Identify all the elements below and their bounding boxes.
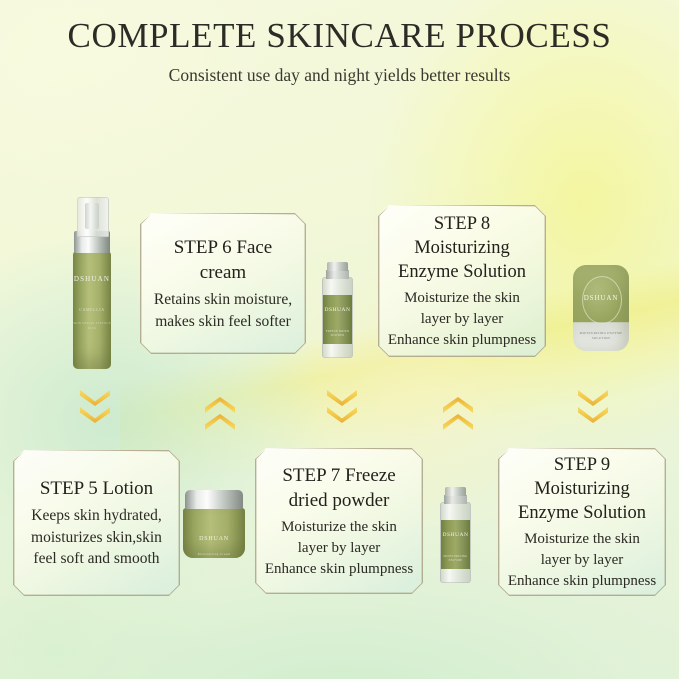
flow-arrow-2-up	[205, 388, 235, 432]
vial-neck	[444, 495, 467, 504]
card-step-7-body: Moisturize the skin layer by layer Enhan…	[264, 517, 414, 580]
product-sachet-enzyme: DSHUAN MOISTURIZING ENZYME SOLUTION	[573, 265, 629, 351]
card-step-8-body: Moisturize the skin layer by layer Enhan…	[387, 288, 537, 351]
bottle-description: SKIN REPAIR ESSENCE MILK	[73, 321, 111, 331]
card-step-5-body: Keeps skin hydrated, moisturizes skin,sk…	[22, 505, 171, 570]
page-title: COMPLETE SKINCARE PROCESS	[0, 14, 679, 58]
card-step-5-title: STEP 5 Lotion	[22, 476, 171, 501]
vial-label: DSHUAN FREEZE DRIED POWDER	[323, 295, 352, 344]
header: COMPLETE SKINCARE PROCESS Consistent use…	[0, 14, 679, 87]
flow-arrow-3-down	[327, 388, 357, 432]
card-step-9-body: Moisturize the skin layer by layer Enhan…	[507, 529, 657, 592]
jar-sub-label: Moisturizing Cream	[183, 552, 245, 556]
card-step-7[interactable]: STEP 7 Freeze dried powder Moisturize th…	[255, 448, 423, 594]
card-step-6-title: STEP 6 Face cream	[149, 235, 297, 285]
vial-brand: DSHUAN	[441, 532, 470, 538]
jar-brand: DSHUAN	[183, 536, 245, 542]
infographic-canvas: COMPLETE SKINCARE PROCESS Consistent use…	[0, 0, 679, 679]
vial-cap	[327, 262, 348, 271]
page-subtitle: Consistent use day and night yields bett…	[0, 63, 679, 87]
card-step-5[interactable]: STEP 5 Lotion Keeps skin hydrated, moist…	[13, 450, 180, 596]
bottle-body: DSHUAN CAMELLIA SKIN REPAIR ESSENCE MILK	[73, 251, 111, 369]
card-step-7-title: STEP 7 Freeze dried powder	[264, 463, 414, 513]
card-step-8-title: STEP 8 Moisturizing Enzyme Solution	[387, 212, 537, 284]
vial-neck	[326, 270, 349, 279]
product-vial-enzyme: DSHUAN MOISTURIZING ENZYME	[438, 487, 473, 583]
bottle-pump-nozzle	[85, 203, 99, 229]
card-step-9[interactable]: STEP 9 Moisturizing Enzyme Solution Mois…	[498, 448, 666, 596]
flow-arrow-5-down	[578, 388, 608, 432]
card-step-8[interactable]: STEP 8 Moisturizing Enzyme Solution Mois…	[378, 205, 546, 357]
card-step-9-title: STEP 9 Moisturizing Enzyme Solution	[507, 453, 657, 525]
jar-lid	[185, 490, 243, 509]
flow-arrow-4-up	[443, 388, 473, 432]
vial-sub-label: MOISTURIZING ENZYME	[441, 554, 470, 562]
card-step-6[interactable]: STEP 6 Face cream Retains skin moisture,…	[140, 213, 306, 354]
vial-label: DSHUAN MOISTURIZING ENZYME	[441, 520, 470, 569]
vial-brand: DSHUAN	[323, 307, 352, 313]
card-step-6-body: Retains skin moisture, makes skin feel s…	[149, 289, 297, 332]
vial-cap	[445, 487, 466, 496]
product-pump-bottle: DSHUAN CAMELLIA SKIN REPAIR ESSENCE MILK	[70, 197, 114, 369]
product-vial-freeze-dried: DSHUAN FREEZE DRIED POWDER	[320, 262, 355, 358]
sachet-sub-label: MOISTURIZING ENZYME SOLUTION	[573, 331, 629, 341]
bottle-brand: DSHUAN	[73, 275, 111, 283]
sachet-brand: DSHUAN	[573, 294, 629, 302]
vial-sub-label: FREEZE DRIED POWDER	[323, 329, 352, 337]
jar-body: DSHUAN Moisturizing Cream	[183, 508, 245, 558]
product-cream-jar: DSHUAN Moisturizing Cream	[183, 490, 245, 558]
bottle-sub-label: CAMELLIA	[73, 307, 111, 312]
flow-arrow-1-down	[80, 388, 110, 432]
